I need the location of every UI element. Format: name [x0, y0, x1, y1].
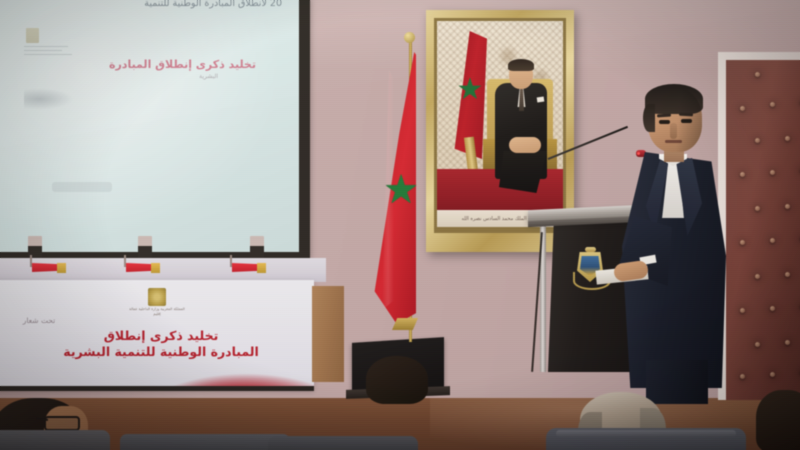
king-hands: [509, 137, 541, 153]
chair-back: [268, 436, 418, 450]
king-pocket-square: [537, 97, 545, 103]
banner-emblem-caption: المملكة المغربية وزارة الداخلية عمالة إق…: [126, 307, 188, 318]
royal-portrait: ★: [437, 21, 563, 227]
morocco-coat-of-arms-icon: [148, 288, 166, 306]
eyeglasses-icon: [44, 416, 80, 431]
flag-finial-icon: [404, 32, 415, 43]
door-shading: [726, 60, 800, 400]
screen-mount-base: [250, 246, 264, 258]
podium-crest-crown-icon: [585, 247, 596, 252]
banner-headline-line2: المبادرة الوطنية للتنمية البشرية: [36, 344, 286, 359]
pentagram-star-icon: ★: [381, 170, 421, 210]
table-front-edge: [0, 386, 314, 391]
chair-back: [0, 430, 110, 450]
slide-signature-mark: [24, 88, 74, 110]
banner-headline-line1: تخليد ذكرى إنطلاق: [46, 328, 276, 343]
chair-back: [120, 434, 290, 450]
portrait-pentagram-icon: ★: [455, 75, 485, 105]
audience-member-far-right: [756, 390, 800, 450]
slide-title-text: تخليد ذكرى إنطلاق المبادرة: [16, 58, 256, 71]
slide-emblem-icon: [26, 28, 39, 43]
speaker-face-shading: [648, 88, 702, 152]
banner-slogan-label: تحت شعار: [4, 316, 74, 325]
slide-faint-mark: [52, 182, 112, 192]
wooden-side-panel: [312, 286, 344, 382]
ceremony-banner: المملكة المغربية وزارة الداخلية عمالة إق…: [0, 280, 314, 390]
king-hair: [508, 59, 534, 71]
projector-glow: [0, 0, 299, 252]
chair-back-highlight: [556, 430, 736, 437]
audience-member-center: [366, 356, 428, 404]
microphone-led-icon: [637, 152, 640, 155]
slide-subtitle-text: البشرية: [18, 73, 218, 80]
projection-screen: 20 لانطلاق المبادرة الوطنية للتنمية تخلي…: [0, 0, 299, 252]
speaker-lower-body: [646, 360, 708, 404]
slide-header-text: 20 لانطلاق المبادرة الوطنية للتنمية: [12, 0, 282, 9]
photograph-scene: 20 لانطلاق المبادرة الوطنية للتنمية تخلي…: [0, 0, 800, 450]
screen-mount-base: [138, 246, 152, 258]
